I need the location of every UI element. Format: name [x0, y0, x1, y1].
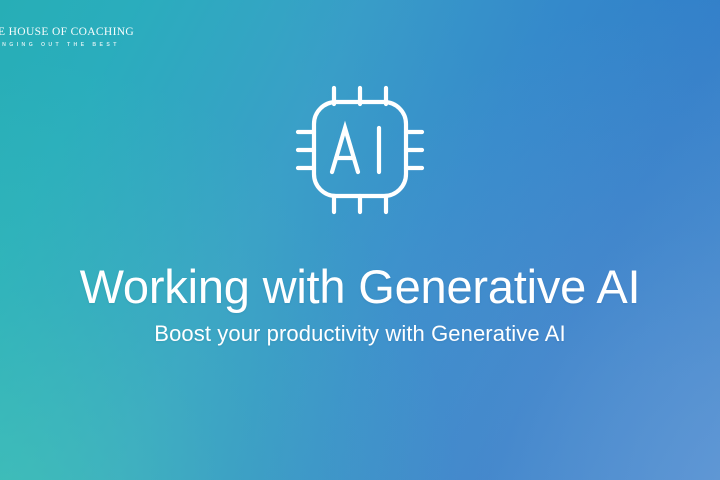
brand-tagline: BRINGING OUT THE BEST: [0, 43, 134, 48]
page-subtitle: Boost your productivity with Generative …: [0, 319, 720, 349]
brand-name: THE HOUSE OF COACHING: [0, 27, 134, 39]
ai-chip-icon-svg: [284, 82, 436, 218]
page-title: Working with Generative AI: [0, 258, 720, 316]
headline-block: Working with Generative AI Boost your pr…: [0, 258, 720, 349]
title-slide: THE HOUSE OF COACHING BRINGING OUT THE B…: [0, 0, 720, 480]
brand-logo: THE HOUSE OF COACHING BRINGING OUT THE B…: [0, 27, 134, 48]
ai-chip-icon: [284, 82, 436, 218]
